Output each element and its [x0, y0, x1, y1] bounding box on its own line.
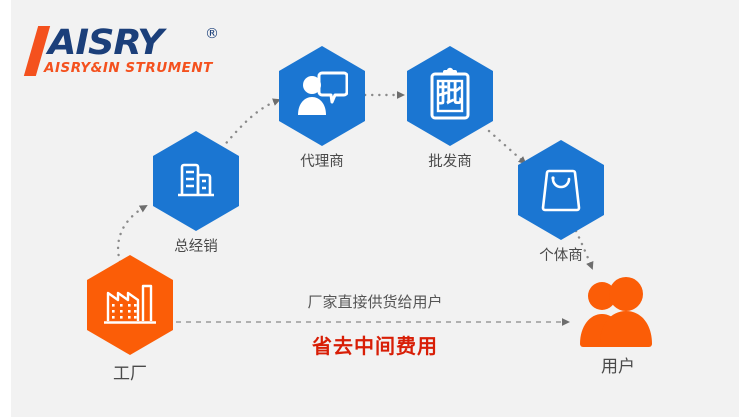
diagram-canvas: AISRY ® AISRY&IN STRUMENT 总经销 — [0, 0, 750, 417]
registered-trademark-icon: ® — [205, 26, 219, 42]
node-label-distributor: 总经销 — [146, 235, 246, 256]
edge-factory-distributor — [118, 206, 146, 262]
node-label-retailer: 个体商 — [511, 244, 611, 265]
brand-logo: AISRY ® AISRY&IN STRUMENT — [22, 24, 222, 82]
node-wholesaler[interactable]: 批 批发商 — [400, 46, 500, 146]
building-icon — [172, 157, 220, 205]
shopping-bag-icon — [540, 167, 582, 213]
node-distributor[interactable]: 总经销 — [146, 131, 246, 231]
node-label-wholesaler: 批发商 — [400, 150, 500, 171]
person-chat-icon — [296, 71, 348, 121]
clipboard-char: 批 — [429, 70, 471, 118]
node-agent[interactable]: 代理商 — [272, 46, 372, 146]
logo-tagline: AISRY&IN STRUMENT — [44, 60, 213, 76]
node-label-agent: 代理商 — [272, 150, 372, 171]
node-retailer[interactable]: 个体商 — [511, 140, 611, 240]
direct-supply-label: 厂家直接供货给用户 — [0, 291, 750, 312]
savings-highlight-label: 省去中间费用 — [0, 330, 750, 359]
logo-wordmark: AISRY — [48, 24, 163, 62]
node-label-factory: 工厂 — [80, 359, 180, 384]
